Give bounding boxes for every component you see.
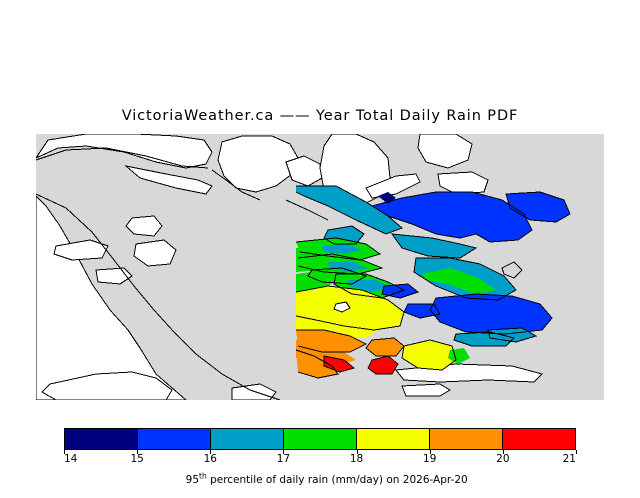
colorbar-segment-15-16[interactable] bbox=[137, 429, 210, 449]
map-canvas[interactable] bbox=[36, 134, 604, 400]
colorbar-segment-17-18[interactable] bbox=[283, 429, 356, 449]
colorbar-segment-14-15[interactable] bbox=[65, 429, 137, 449]
colorbar-segment-20-21[interactable] bbox=[502, 429, 575, 449]
colorbar-tick-21 bbox=[576, 450, 577, 454]
caption-superscript: th bbox=[199, 472, 207, 481]
colorbar-segment-18-19[interactable] bbox=[356, 429, 429, 449]
caption-rest: percentile of daily rain (mm/day) on 202… bbox=[207, 474, 468, 486]
page-title: VictoriaWeather.ca —— Year Total Daily R… bbox=[0, 108, 640, 124]
water-east-tail-lower bbox=[402, 384, 450, 396]
caption-prefix: 95 bbox=[186, 474, 199, 486]
colorbar-segment-19-20[interactable] bbox=[429, 429, 502, 449]
map-svg bbox=[36, 134, 604, 400]
colorbar-segment-16-17[interactable] bbox=[210, 429, 283, 449]
colorbar[interactable] bbox=[64, 428, 576, 450]
weather-map-page: VictoriaWeather.ca —— Year Total Daily R… bbox=[0, 0, 640, 480]
colorbar-caption: 95th percentile of daily rain (mm/day) o… bbox=[0, 462, 640, 498]
